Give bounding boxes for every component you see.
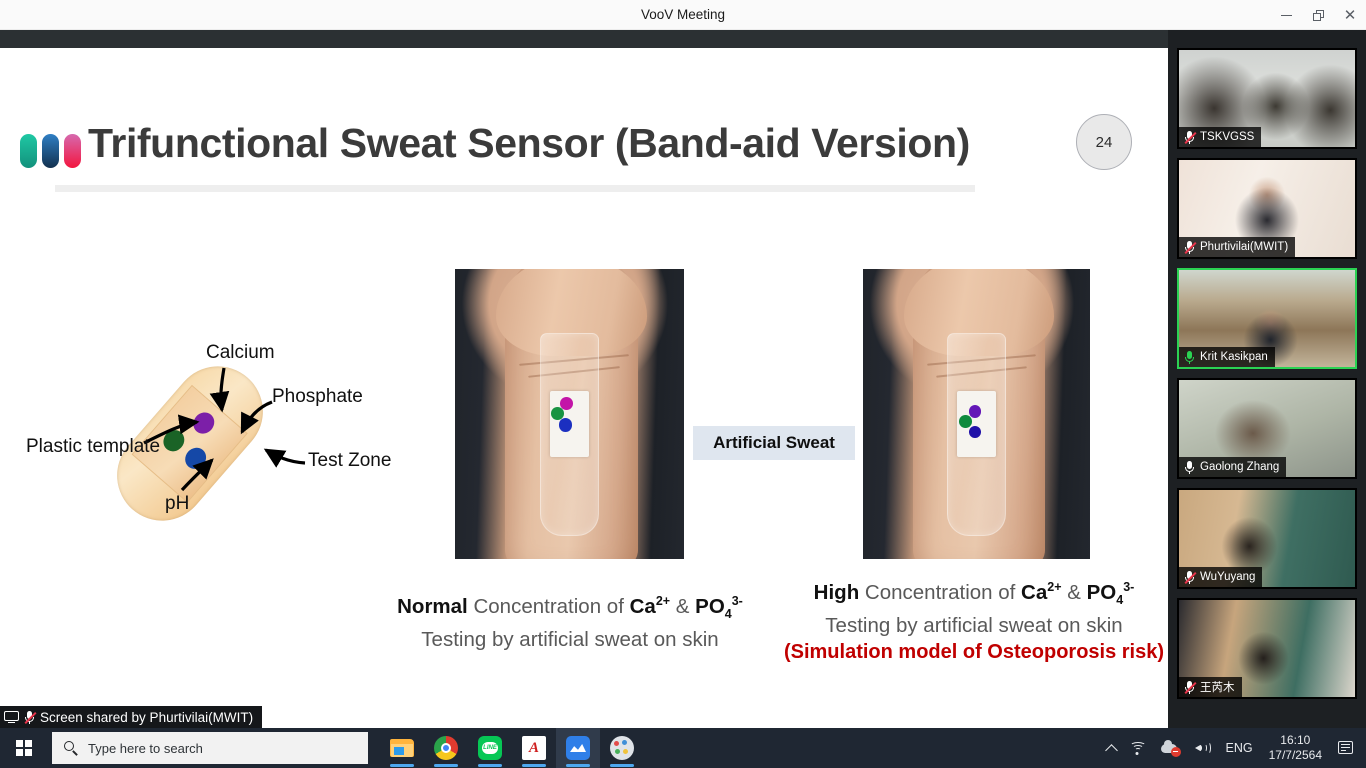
photo-dot-calcium	[560, 397, 573, 410]
photo-dot-phosphate	[969, 426, 981, 438]
notification-icon	[1338, 741, 1355, 756]
participant-nameplate: Phurtivilai(MWIT)	[1179, 237, 1295, 257]
caption-normal-ca: Ca	[630, 595, 656, 618]
participant-nameplate: Krit Kasikpan	[1179, 347, 1275, 367]
bullet-pill-blue	[42, 134, 59, 168]
participant-nameplate: WuYuyang	[1179, 567, 1262, 587]
screen-root: VooV Meeting ✕ Trifunctional Sweat Senso…	[0, 0, 1366, 768]
taskbar-app-line[interactable]: LINE	[468, 728, 512, 768]
chevron-up-icon	[1105, 744, 1118, 757]
caption-normal-line2: Testing by artificial sweat on skin	[380, 627, 760, 653]
participant-name: Phurtivilai(MWIT)	[1200, 241, 1288, 253]
window-title: VooV Meeting	[0, 0, 1366, 30]
caption-normal-po-charge: 3-	[732, 594, 743, 608]
caption-high-po-charge: 3-	[1123, 580, 1134, 594]
caption-normal-amp: &	[670, 595, 695, 618]
caption-high: High Concentration of Ca2+ & PO43- Testi…	[782, 574, 1166, 665]
taskbar-app-voov-meeting[interactable]	[556, 728, 600, 768]
participant-name: TSKVGSS	[1200, 131, 1254, 143]
title-underline-bar	[55, 185, 975, 192]
participant-nameplate: 王芮木	[1179, 677, 1242, 697]
caption-high-amp: &	[1062, 581, 1087, 604]
caption-normal-ca-charge: 2+	[656, 594, 670, 608]
caption-high-line2: Testing by artificial sweat on skin	[782, 613, 1166, 639]
mic-active-icon	[1184, 351, 1195, 364]
participant-tile-wangpengmu[interactable]: 王芮木	[1177, 598, 1357, 699]
photo-normal-concentration	[455, 269, 684, 559]
participant-tile-wuyuyang[interactable]: WuYuyang	[1177, 488, 1357, 589]
diagram-label-plastic-template: Plastic template	[26, 436, 160, 458]
screen-share-banner: Screen shared by Phurtivilai(MWIT)	[0, 706, 262, 728]
window-controls: ✕	[1270, 0, 1366, 30]
chrome-icon	[434, 736, 458, 760]
participant-tile-krit-kasikpan[interactable]: Krit Kasikpan	[1177, 268, 1357, 369]
screen-share-label: Screen shared by Phurtivilai(MWIT)	[40, 710, 253, 725]
mic-muted-icon	[1184, 131, 1195, 144]
close-icon: ✕	[1344, 8, 1357, 23]
photo-dot-phosphate	[559, 418, 573, 432]
paint-icon	[610, 736, 634, 760]
close-button[interactable]: ✕	[1334, 0, 1366, 30]
bandaid-diagram: Calcium Phosphate Plastic template Test …	[10, 328, 430, 548]
mic-muted-icon	[24, 711, 35, 724]
caption-normal: Normal Concentration of Ca2+ & PO43- Tes…	[380, 588, 760, 653]
windows-taskbar: Type here to search LINE A	[0, 728, 1366, 768]
mic-muted-icon	[1184, 571, 1195, 584]
start-button[interactable]	[0, 728, 48, 768]
minimize-icon	[1281, 15, 1292, 16]
tray-show-hidden-icons-button[interactable]	[1100, 728, 1123, 768]
taskbar-app-file-explorer[interactable]	[380, 728, 424, 768]
participant-name: 王芮木	[1200, 679, 1235, 695]
tray-network-button[interactable]	[1123, 728, 1154, 768]
tray-onedrive-button[interactable]	[1154, 728, 1187, 768]
caption-normal-emphasis: Normal	[397, 595, 468, 618]
restore-icon	[1313, 10, 1324, 21]
caption-normal-rest: Concentration of	[468, 595, 630, 618]
participant-tile-tskvgss[interactable]: TSKVGSS	[1177, 48, 1357, 149]
minimize-button[interactable]	[1270, 0, 1302, 30]
diagram-label-calcium: Calcium	[206, 342, 275, 364]
caption-high-osteoporosis-note: (Simulation model of Osteoporosis risk)	[782, 639, 1166, 665]
caption-normal-po: PO	[695, 595, 725, 618]
participant-name: Krit Kasikpan	[1200, 351, 1268, 363]
search-icon	[64, 741, 78, 755]
clock-time: 16:10	[1280, 733, 1310, 748]
caption-high-po: PO	[1087, 581, 1117, 604]
participant-name: WuYuyang	[1200, 571, 1255, 583]
taskbar-app-chrome[interactable]	[424, 728, 468, 768]
adobe-acrobat-icon: A	[522, 736, 546, 760]
speaker-icon	[1194, 741, 1212, 755]
taskbar-app-adobe-acrobat[interactable]: A	[512, 728, 556, 768]
caption-high-ca-charge: 2+	[1047, 580, 1061, 594]
file-explorer-icon	[390, 736, 414, 760]
taskbar-app-icons: LINE A	[380, 728, 644, 768]
slide-number-badge: 24	[1076, 114, 1132, 170]
taskbar-search-input[interactable]: Type here to search	[52, 732, 368, 764]
caption-high-rest: Concentration of	[859, 581, 1021, 604]
cloud-error-icon	[1161, 741, 1180, 756]
tray-language-button[interactable]: ENG	[1219, 728, 1260, 768]
tray-clock[interactable]: 16:10 17/7/2564	[1260, 728, 1331, 768]
restore-button[interactable]	[1302, 0, 1334, 30]
caption-high-line1: High Concentration of Ca2+ & PO43-	[782, 574, 1166, 613]
participant-nameplate: TSKVGSS	[1179, 127, 1261, 147]
voov-meeting-icon	[566, 736, 590, 760]
participant-tile-gaolong-zhang[interactable]: Gaolong Zhang	[1177, 378, 1357, 479]
caption-high-po-count: 4	[1116, 593, 1123, 607]
language-indicator: ENG	[1226, 741, 1253, 755]
search-placeholder: Type here to search	[88, 741, 203, 756]
line-icon: LINE	[478, 736, 502, 760]
caption-high-emphasis: High	[814, 581, 860, 604]
screen-share-icon	[4, 711, 19, 724]
slide-title: Trifunctional Sweat Sensor (Band-aid Ver…	[88, 120, 970, 167]
mic-muted-icon	[1184, 241, 1195, 254]
bullet-pill-pink	[64, 134, 81, 168]
tray-volume-button[interactable]	[1187, 728, 1219, 768]
participant-tile-phurtivilai[interactable]: Phurtivilai(MWIT)	[1177, 158, 1357, 259]
taskbar-app-paint[interactable]	[600, 728, 644, 768]
meeting-top-strip	[0, 30, 1366, 48]
photo-high-concentration	[863, 269, 1090, 559]
diagram-label-ph: pH	[165, 493, 189, 515]
shared-screen-stage: Trifunctional Sweat Sensor (Band-aid Ver…	[0, 48, 1168, 706]
participant-nameplate: Gaolong Zhang	[1179, 457, 1286, 477]
windows-logo-icon	[16, 740, 33, 757]
participant-name: Gaolong Zhang	[1200, 461, 1279, 473]
system-tray: ENG 16:10 17/7/2564	[1100, 728, 1366, 768]
clock-date: 17/7/2564	[1269, 748, 1322, 763]
mic-on-icon	[1184, 461, 1195, 474]
artificial-sweat-tag: Artificial Sweat	[693, 426, 855, 460]
participant-rail[interactable]: TSKVGSS Phurtivilai(MWIT) Krit Kasikpan …	[1168, 30, 1366, 736]
caption-normal-line1: Normal Concentration of Ca2+ & PO43-	[380, 588, 760, 627]
diagram-label-test-zone: Test Zone	[308, 450, 391, 472]
tray-action-center-button[interactable]	[1331, 728, 1362, 768]
caption-normal-po-count: 4	[725, 607, 732, 621]
mic-muted-icon	[1184, 681, 1195, 694]
bullet-pill-teal	[20, 134, 37, 168]
wifi-icon	[1130, 741, 1147, 755]
diagram-label-phosphate: Phosphate	[272, 386, 363, 408]
slide-bullet-marks	[20, 134, 81, 168]
window-titlebar: VooV Meeting ✕	[0, 0, 1366, 30]
caption-high-ca: Ca	[1021, 581, 1047, 604]
